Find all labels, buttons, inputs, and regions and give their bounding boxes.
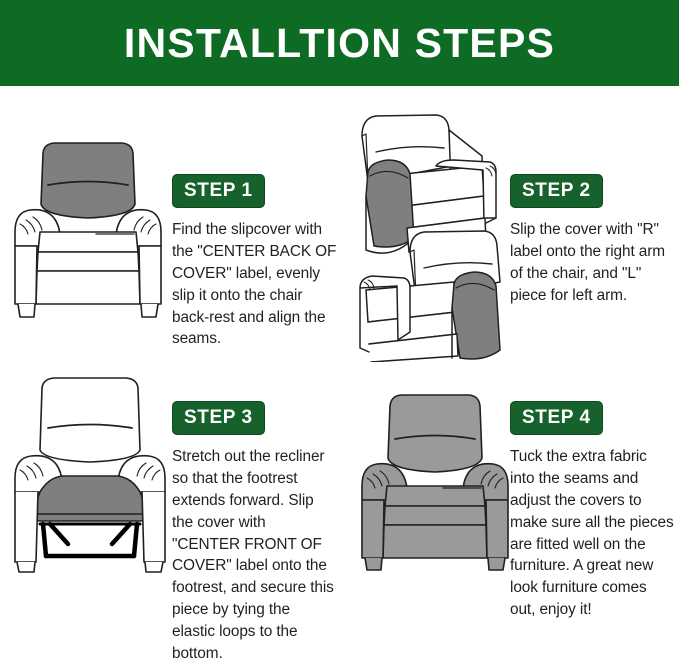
- steps-grid: STEP 1 Find the slipcover with the "CENT…: [0, 86, 679, 617]
- step-2-text-block: STEP 2 Slip the cover with "R" label ont…: [510, 174, 675, 307]
- step-card-2: STEP 2 Slip the cover with "R" label ont…: [340, 86, 679, 336]
- step-card-1: STEP 1 Find the slipcover with the "CENT…: [0, 86, 340, 336]
- step-1-text-block: STEP 1 Find the slipcover with the "CENT…: [172, 174, 337, 350]
- step-card-4: STEP 4 Tuck the extra fabric into the se…: [340, 336, 679, 617]
- step-3-description: Stretch out the recliner so that the foo…: [172, 446, 337, 665]
- step-2-description: Slip the cover with "R" label onto the r…: [510, 219, 675, 307]
- step-1-badge: STEP 1: [172, 174, 265, 208]
- recliner-footrest-extended-covered-icon: [10, 366, 170, 576]
- step-3-illustration: [10, 366, 170, 576]
- step-card-3: STEP 3 Stretch out the recliner so that …: [0, 336, 340, 617]
- step-4-badge: STEP 4: [510, 401, 603, 435]
- step-4-description: Tuck the extra fabric into the seams and…: [510, 446, 675, 621]
- two-recliners-arm-covered-icon: [344, 100, 516, 362]
- step-1-description: Find the slipcover with the "CENTER BACK…: [172, 219, 337, 350]
- header-banner: INSTALLTION STEPS: [0, 0, 679, 86]
- step-4-text-block: STEP 4 Tuck the extra fabric into the se…: [510, 401, 675, 621]
- step-3-text-block: STEP 3 Stretch out the recliner so that …: [172, 401, 337, 665]
- page-title: INSTALLTION STEPS: [124, 23, 555, 64]
- step-2-illustration: [344, 100, 516, 362]
- recliner-fully-covered-icon: [352, 380, 517, 580]
- recliner-front-backrest-covered-icon: [8, 128, 168, 328]
- step-2-badge: STEP 2: [510, 174, 603, 208]
- step-1-illustration: [8, 128, 168, 328]
- step-3-badge: STEP 3: [172, 401, 265, 435]
- step-4-illustration: [352, 380, 517, 580]
